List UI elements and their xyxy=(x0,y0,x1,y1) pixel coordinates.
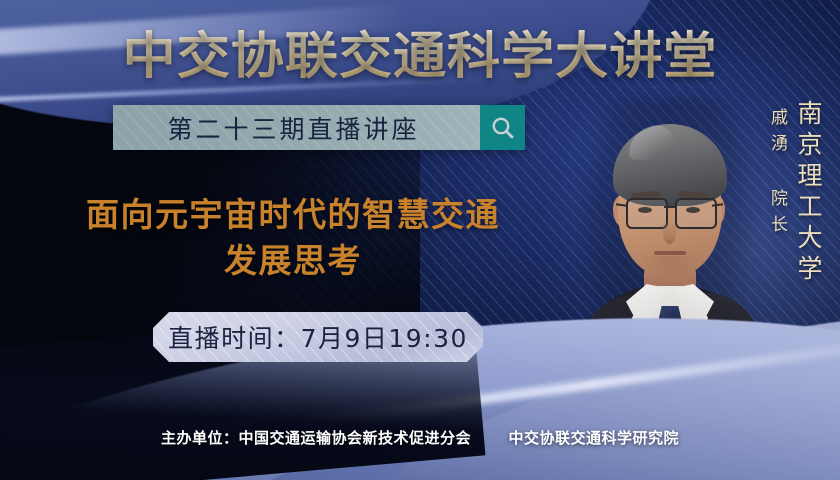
live-time-label: 直播时间：7月9日19:30 xyxy=(168,319,468,355)
organizer-footer: 主办单位：中国交通运输协会新技术促进分会 中交协联交通科学研究院 xyxy=(0,427,840,448)
organizer-secondary: 中交协联交通科学研究院 xyxy=(508,429,679,447)
nose xyxy=(663,220,676,244)
live-lecture-poster: 中交协联交通科学大讲堂 第二十三期直播讲座 面向元宇宙时代的智慧交通 发展思考 … xyxy=(0,0,840,480)
speaker-affiliation: 南京理工大学 xyxy=(790,100,826,286)
speaker-name-title: 戚湧 院长 xyxy=(765,108,790,241)
mouth xyxy=(654,251,686,255)
glasses-lens-left xyxy=(626,198,668,229)
glasses-bridge xyxy=(664,206,675,208)
live-time-badge: 直播时间：7月9日19:30 xyxy=(153,312,483,362)
glasses-lens-right xyxy=(675,198,717,229)
episode-label: 第二十三期直播讲座 xyxy=(113,110,480,146)
lecture-title-line2: 发展思考 xyxy=(28,238,558,284)
lecture-title: 面向元宇宙时代的智慧交通 发展思考 xyxy=(28,192,558,284)
organizer-primary: 主办单位：中国交通运输协会新技术促进分会 xyxy=(161,429,471,447)
search-icon[interactable] xyxy=(480,105,525,150)
chin-shading xyxy=(642,256,698,278)
lecture-title-line1: 面向元宇宙时代的智慧交通 xyxy=(28,192,558,238)
episode-bar[interactable]: 第二十三期直播讲座 xyxy=(113,105,525,150)
page-title: 中交协联交通科学大讲堂 xyxy=(0,16,840,88)
